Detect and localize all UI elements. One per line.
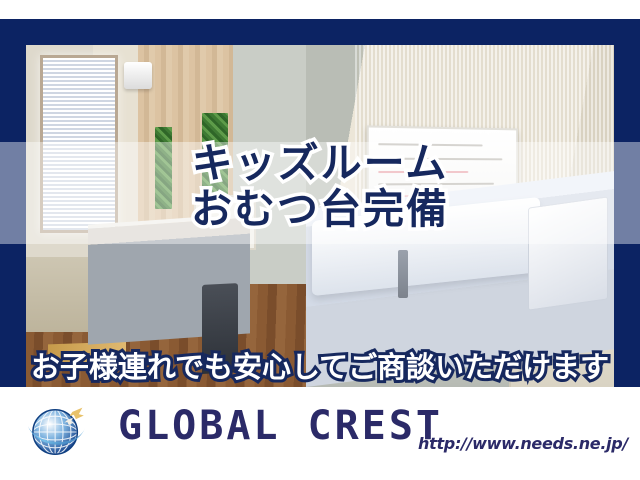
- safety-strap: [398, 250, 407, 298]
- footer-bar: GLOBAL CREST http://www.needs.ne.jp/: [0, 387, 640, 480]
- banner-image: キッズルーム おむつ台完備 お子様連れでも安心してご商談いただけます: [0, 0, 640, 480]
- globe-icon: [22, 399, 94, 465]
- headline: キッズルーム おむつ台完備: [0, 143, 640, 231]
- website-url[interactable]: http://www.needs.ne.jp/: [418, 434, 628, 453]
- caption-text: お子様連れでも安心してご商談いただけます: [0, 344, 640, 386]
- brand-name: GLOBAL CREST: [118, 403, 443, 449]
- headline-line-1: キッズルーム: [192, 139, 449, 187]
- headline-line-2: おむつ台完備: [0, 189, 640, 231]
- air-conditioner: [124, 62, 152, 89]
